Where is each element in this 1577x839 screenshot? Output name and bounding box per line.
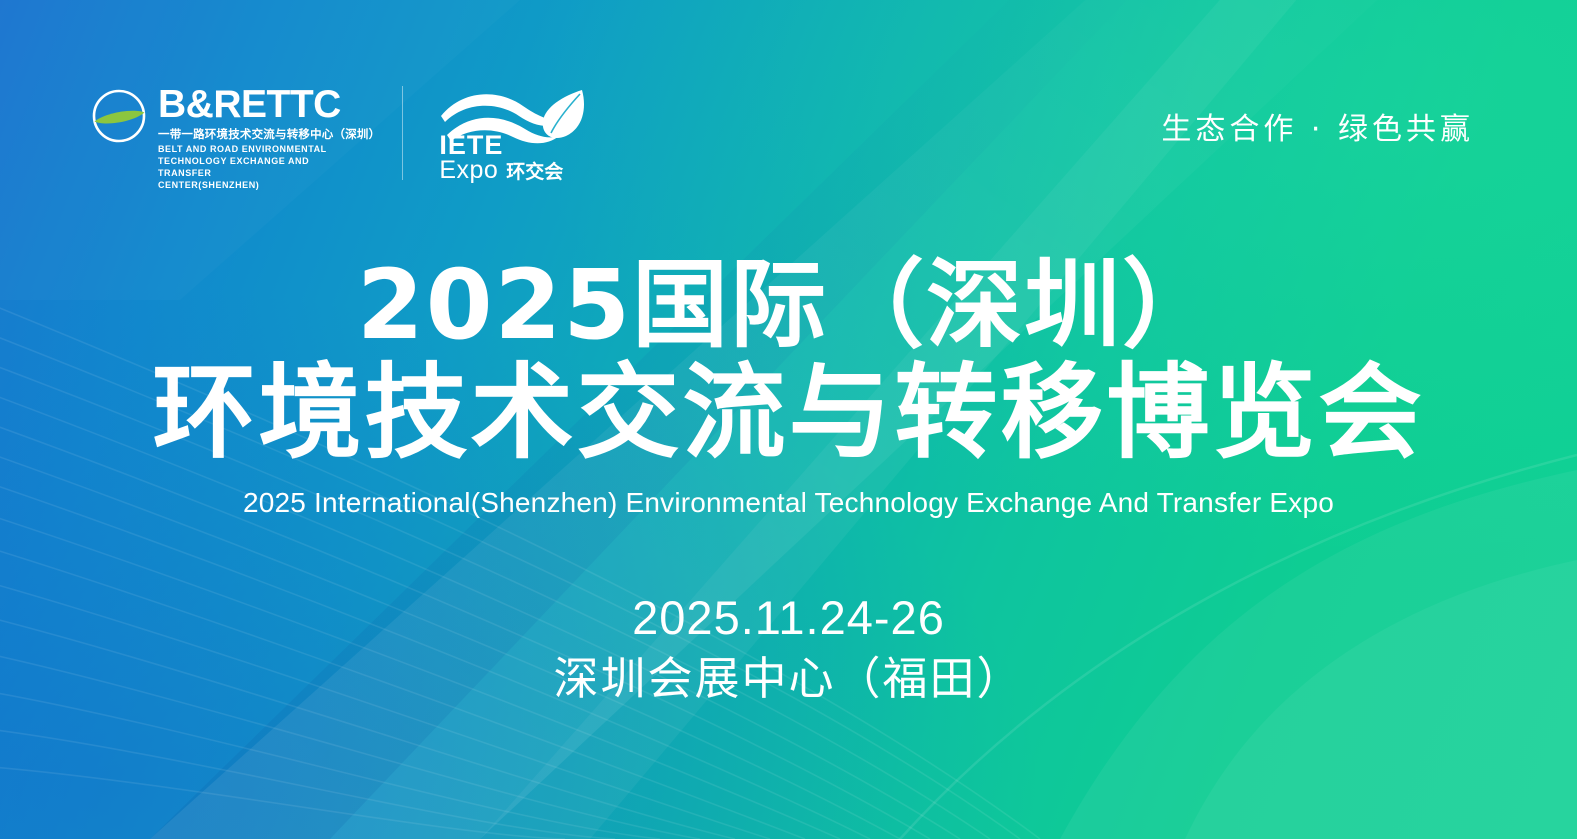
event-banner: B&RETTC 一带一路环境技术交流与转移中心（深圳） BELT AND ROA… bbox=[0, 0, 1577, 839]
iete-acronym: IETE bbox=[439, 132, 503, 159]
iete-chinese-name: 环交会 bbox=[506, 163, 563, 182]
brettc-text-block: B&RETTC 一带一路环境技术交流与转移中心（深圳） BELT AND ROA… bbox=[158, 86, 380, 192]
banner-slogan: 生态合作 · 绿色共赢 bbox=[1161, 0, 1577, 148]
brettc-logo: B&RETTC 一带一路环境技术交流与转移中心（深圳） BELT AND ROA… bbox=[88, 86, 403, 180]
event-subtitle-english: 2025 International(Shenzhen) Environment… bbox=[243, 487, 1334, 519]
circle-globe-icon bbox=[88, 88, 150, 144]
event-title-line-1: 2025国际（深圳） bbox=[357, 255, 1220, 357]
event-date: 2025.11.24-26 bbox=[632, 591, 945, 645]
logo-group: B&RETTC 一带一路环境技术交流与转移中心（深圳） BELT AND ROA… bbox=[0, 0, 589, 182]
event-venue: 深圳会展中心（福田） bbox=[553, 653, 1023, 705]
iete-expo-logo: IETE Expo 环交会 bbox=[437, 86, 589, 182]
banner-main: 2025国际（深圳） 环境技术交流与转移博览会 2025 Internation… bbox=[0, 255, 1577, 705]
iete-expo-row: Expo 环交会 bbox=[439, 158, 563, 183]
banner-header: B&RETTC 一带一路环境技术交流与转移中心（深圳） BELT AND ROA… bbox=[0, 0, 1577, 200]
event-title-line-2: 环境技术交流与转移博览会 bbox=[153, 359, 1425, 467]
iete-expo-word: Expo bbox=[439, 158, 498, 183]
brettc-chinese-name: 一带一路环境技术交流与转移中心（深圳） bbox=[158, 126, 380, 142]
brettc-english-line-1: BELT AND ROAD ENVIRONMENTAL bbox=[158, 144, 363, 156]
brettc-english-line-2: TECHNOLOGY EXCHANGE AND TRANSFER bbox=[158, 156, 363, 180]
brettc-english-name: BELT AND ROAD ENVIRONMENTAL TECHNOLOGY E… bbox=[158, 144, 363, 192]
brettc-wordmark: B&RETTC bbox=[158, 86, 380, 123]
brettc-english-line-3: CENTER(SHENZHEN) bbox=[158, 180, 363, 192]
